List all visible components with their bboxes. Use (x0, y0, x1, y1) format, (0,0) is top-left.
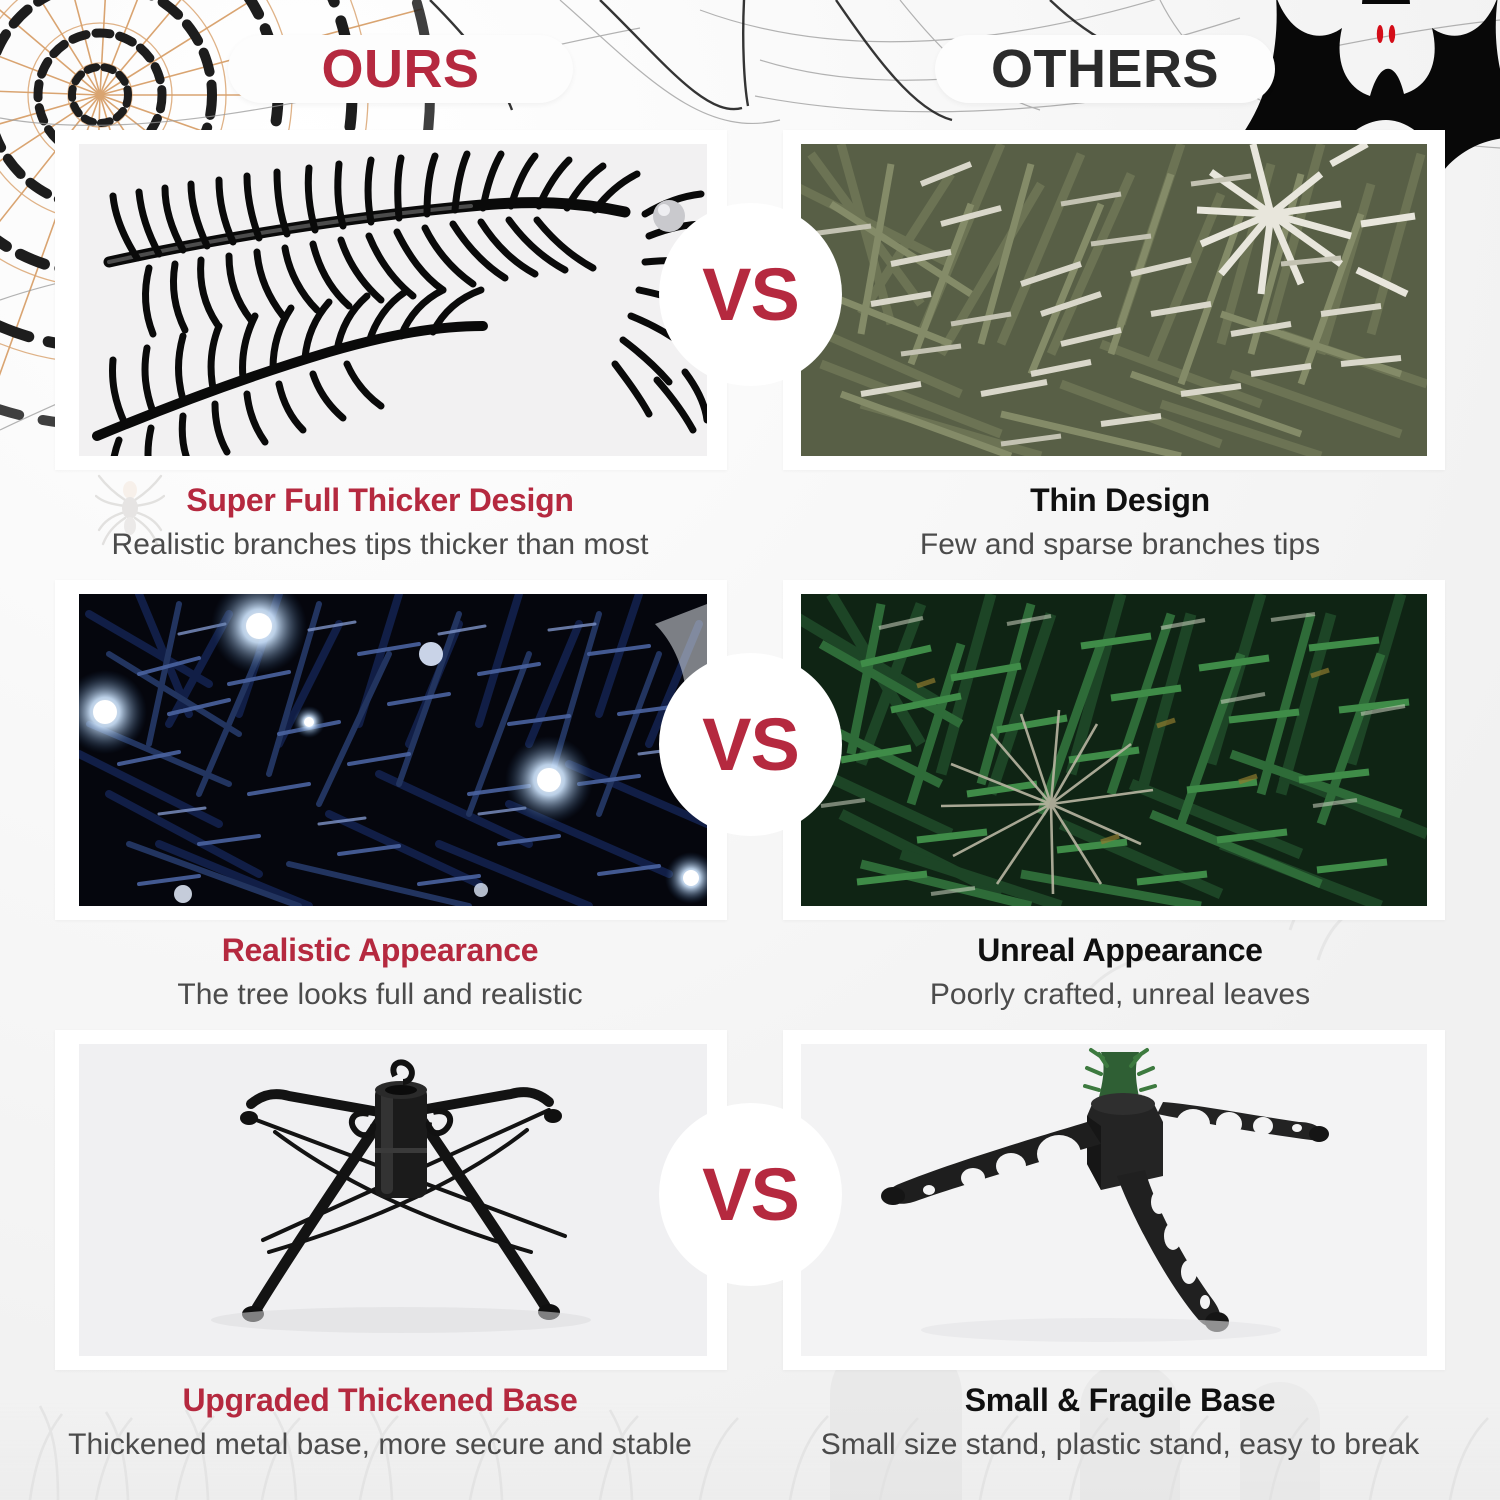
others-photo-2-dark-green-needles (801, 594, 1427, 906)
ours-caption-3: Upgraded Thickened Base Thickened metal … (0, 1382, 760, 1463)
comparison-infographic: OURS OTHERS (0, 0, 1500, 1500)
ours-subtitle-3: Thickened metal base, more secure and st… (0, 1427, 760, 1463)
others-subtitle-1: Few and sparse branches tips (740, 527, 1500, 563)
vs-label-3: VS (702, 1158, 799, 1232)
vs-badge-1: VS (659, 203, 842, 386)
header: OURS OTHERS (0, 0, 1500, 130)
ours-card-2 (55, 580, 727, 920)
ours-card-1 (55, 130, 727, 470)
ours-subtitle-2: The tree looks full and realistic (0, 977, 760, 1013)
vs-label-2: VS (702, 708, 799, 782)
ornament (653, 200, 685, 232)
ours-card-3 (55, 1030, 727, 1370)
others-card-2 (783, 580, 1445, 920)
others-photo-3-plastic-tree-stand (801, 1044, 1427, 1356)
center-tube (375, 1081, 427, 1198)
ours-photo-2-black-tree-with-lights (79, 594, 707, 906)
ours-caption-2: Realistic Appearance The tree looks full… (0, 932, 760, 1013)
vs-label-1: VS (702, 258, 799, 332)
ours-label: OURS (321, 42, 479, 96)
others-title-1: Thin Design (740, 482, 1500, 519)
others-subtitle-3: Small size stand, plastic stand, easy to… (740, 1427, 1500, 1463)
others-card-3 (783, 1030, 1445, 1370)
others-label: OTHERS (991, 42, 1219, 96)
ours-photo-3-metal-tree-stand (79, 1044, 707, 1356)
others-caption-1: Thin Design Few and sparse branches tips (740, 482, 1500, 563)
others-title-2: Unreal Appearance (740, 932, 1500, 969)
ours-photo-1-black-pine-branch (79, 144, 707, 456)
vs-badge-2: VS (659, 653, 842, 836)
others-subtitle-2: Poorly crafted, unreal leaves (740, 977, 1500, 1013)
ours-title-3: Upgraded Thickened Base (0, 1382, 760, 1419)
spider-icon (95, 474, 165, 546)
others-title-3: Small & Fragile Base (740, 1382, 1500, 1419)
others-card-1 (783, 130, 1445, 470)
ours-title-2: Realistic Appearance (0, 932, 760, 969)
others-caption-2: Unreal Appearance Poorly crafted, unreal… (740, 932, 1500, 1013)
vs-badge-3: VS (659, 1103, 842, 1286)
others-caption-3: Small & Fragile Base Small size stand, p… (740, 1382, 1500, 1463)
ours-pill: OURS (228, 35, 573, 103)
others-pill: OTHERS (935, 35, 1275, 103)
others-photo-1-sparse-olive-needles (801, 144, 1427, 456)
